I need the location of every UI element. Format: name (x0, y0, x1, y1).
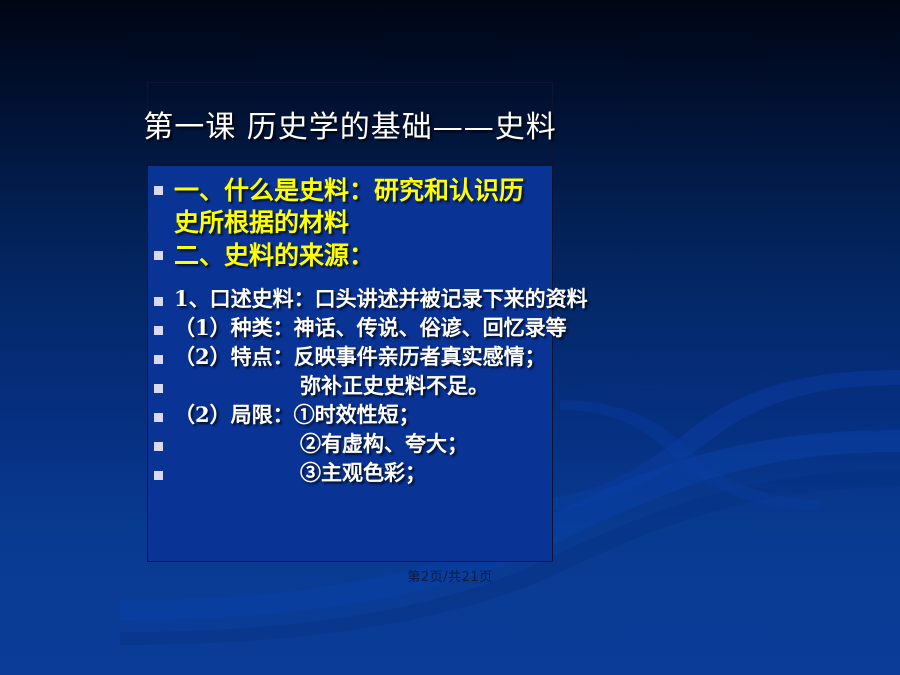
list-item: （1）种类：神话、传说、俗谚、回忆录等 (154, 317, 546, 338)
square-bullet-icon (154, 297, 163, 306)
presentation-slide: 第一课 历史学的基础——史料 一、什么是史料：研究和认识历史所根据的材料 二、史… (0, 0, 900, 675)
bullet-text: （2）特点：反映事件亲历者真实感情； (174, 346, 546, 367)
square-bullet-icon (154, 355, 163, 364)
list-item: 二、史料的来源： (154, 240, 546, 272)
bullet-text: ②有虚构、夸大； (174, 433, 546, 454)
page-number-footer: 第2页/共21页 (0, 566, 900, 585)
bullet-text: 一、什么是史料：研究和认识历史所根据的材料 (174, 175, 546, 238)
bullet-text: （2）局限：①时效性短； (174, 404, 546, 425)
bullet-text: （1）种类：神话、传说、俗谚、回忆录等 (174, 317, 546, 338)
square-bullet-icon (154, 471, 163, 480)
list-item: （2）特点：反映事件亲历者真实感情； (154, 346, 546, 367)
bullet-text: ③主观色彩； (174, 462, 546, 483)
list-item: ②有虚构、夸大； (154, 433, 546, 454)
list-item: 弥补正史史料不足。 (154, 375, 546, 396)
list-item: （2）局限：①时效性短； (154, 404, 546, 425)
list-item: 1、口述史料：口头讲述并被记录下来的资料 (154, 288, 546, 309)
bullet-text: 1、口述史料：口头讲述并被记录下来的资料 (174, 288, 546, 309)
list-item: 一、什么是史料：研究和认识历史所根据的材料 (154, 175, 546, 238)
square-bullet-icon (154, 413, 163, 422)
bullet-text: 弥补正史史料不足。 (174, 375, 546, 396)
bullet-text: 二、史料的来源： (174, 240, 546, 272)
slide-content-box: 一、什么是史料：研究和认识历史所根据的材料 二、史料的来源： 1、口述史料：口头… (147, 165, 553, 562)
square-bullet-icon (154, 384, 163, 393)
square-bullet-icon (154, 442, 163, 451)
slide-title-box: 第一课 历史学的基础——史料 (147, 82, 553, 165)
list-item: ③主观色彩； (154, 462, 546, 483)
square-bullet-icon (154, 326, 163, 335)
square-bullet-icon (154, 186, 163, 195)
square-bullet-icon (154, 251, 163, 260)
page-title: 第一课 历史学的基础——史料 (143, 102, 557, 146)
